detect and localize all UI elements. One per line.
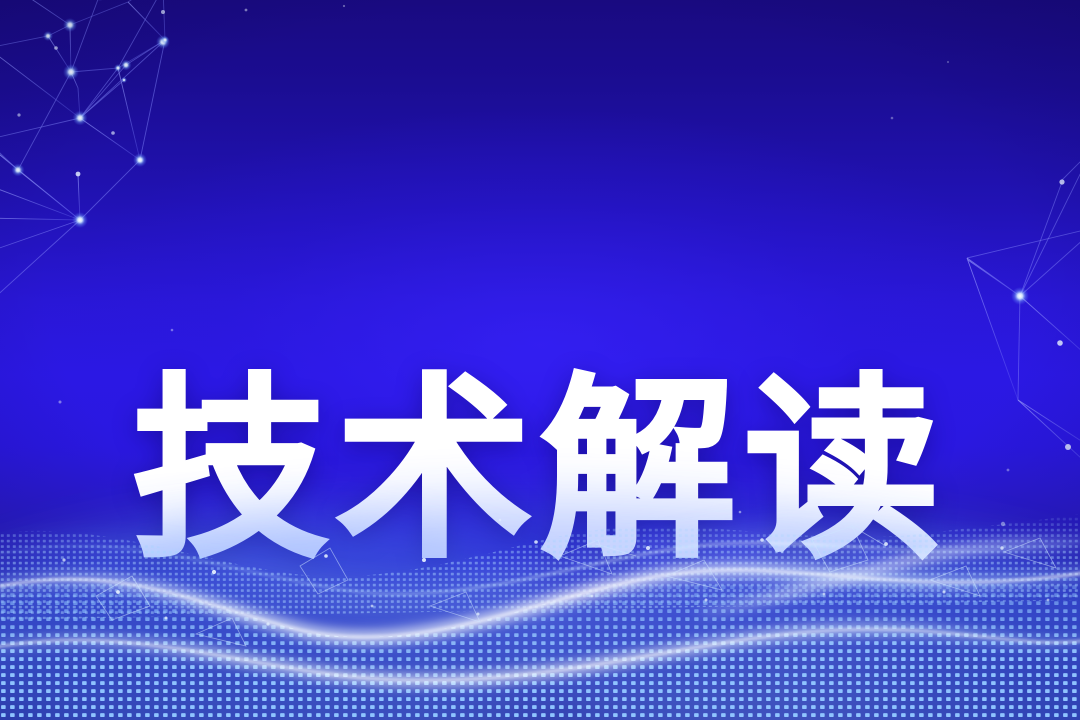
banner-canvas: 技术解读 <box>0 0 1080 720</box>
particle-wave-icon <box>0 0 1080 720</box>
